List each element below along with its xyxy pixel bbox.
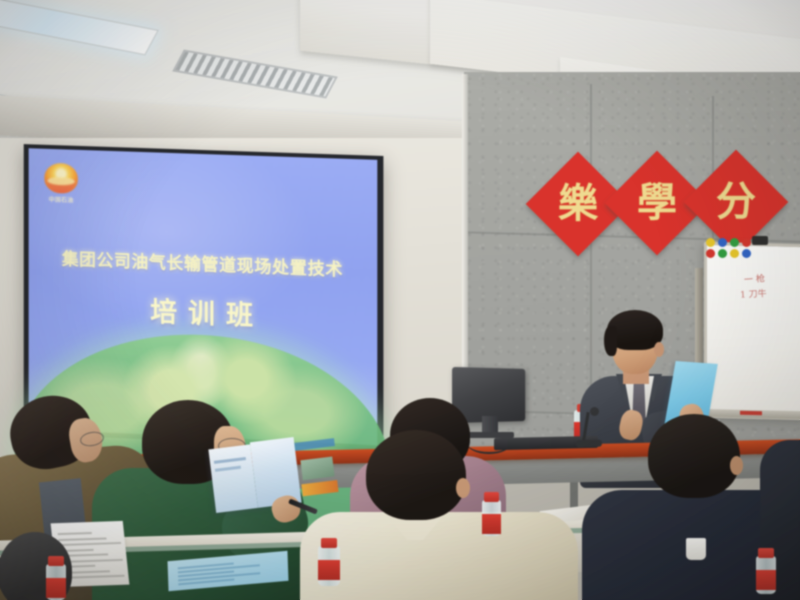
placard-character: 分 bbox=[699, 165, 773, 239]
whiteboard-magnet bbox=[742, 238, 751, 247]
ear bbox=[456, 478, 470, 498]
classroom-photo: 中国石油 集团公司油气长输管道现场处置技术 培训班 樂 學 分 一 枪 1 刀牛 bbox=[0, 0, 800, 600]
hair bbox=[604, 326, 617, 356]
water-bottle bbox=[756, 548, 776, 594]
head bbox=[366, 430, 466, 520]
bottle-label bbox=[318, 560, 340, 580]
water-bottle bbox=[482, 492, 501, 536]
paper-cup bbox=[686, 538, 706, 560]
bottle-label bbox=[46, 578, 66, 598]
paper-text-line bbox=[58, 537, 106, 541]
water-bottle bbox=[318, 538, 340, 586]
logo-text: 中国石油 bbox=[43, 194, 78, 204]
whiteboard-magnet bbox=[742, 249, 751, 258]
water-bottle bbox=[46, 556, 66, 600]
ear bbox=[730, 456, 743, 475]
whiteboard-magnets bbox=[706, 238, 758, 260]
bottle-cap bbox=[321, 538, 338, 548]
bottle-label bbox=[482, 514, 501, 534]
whiteboard-magnet bbox=[706, 249, 715, 258]
attendee-cream-jacket bbox=[316, 430, 566, 600]
bottle-cap bbox=[48, 556, 63, 566]
torso bbox=[300, 512, 578, 600]
whiteboard-magnet bbox=[730, 249, 739, 258]
bottle-cap bbox=[484, 492, 498, 502]
whiteboard-magnet bbox=[706, 238, 715, 247]
cnpc-sun-logo: 中国石油 bbox=[44, 163, 78, 210]
brochure-text-line bbox=[214, 457, 246, 464]
placard-character: 樂 bbox=[541, 167, 615, 241]
whiteboard-magnet bbox=[730, 238, 739, 247]
head bbox=[648, 414, 740, 498]
slide-title: 集团公司油气长输管道现场处置技术 bbox=[29, 243, 378, 281]
placard-character: 學 bbox=[620, 166, 694, 240]
whiteboard-magnet bbox=[718, 238, 727, 247]
whiteboard-note-line: 一 枪 bbox=[744, 271, 766, 285]
ear bbox=[654, 342, 664, 357]
brochure-text-line bbox=[215, 466, 241, 472]
paper-text-line bbox=[58, 532, 92, 535]
paper-text-line bbox=[59, 542, 121, 546]
bottle-cap bbox=[758, 548, 773, 558]
whiteboard-note-line: 1 刀牛 bbox=[740, 286, 767, 300]
slide-subtitle: 培训班 bbox=[29, 285, 378, 338]
whiteboard-magnet bbox=[718, 249, 727, 258]
bottle-label bbox=[756, 570, 776, 590]
